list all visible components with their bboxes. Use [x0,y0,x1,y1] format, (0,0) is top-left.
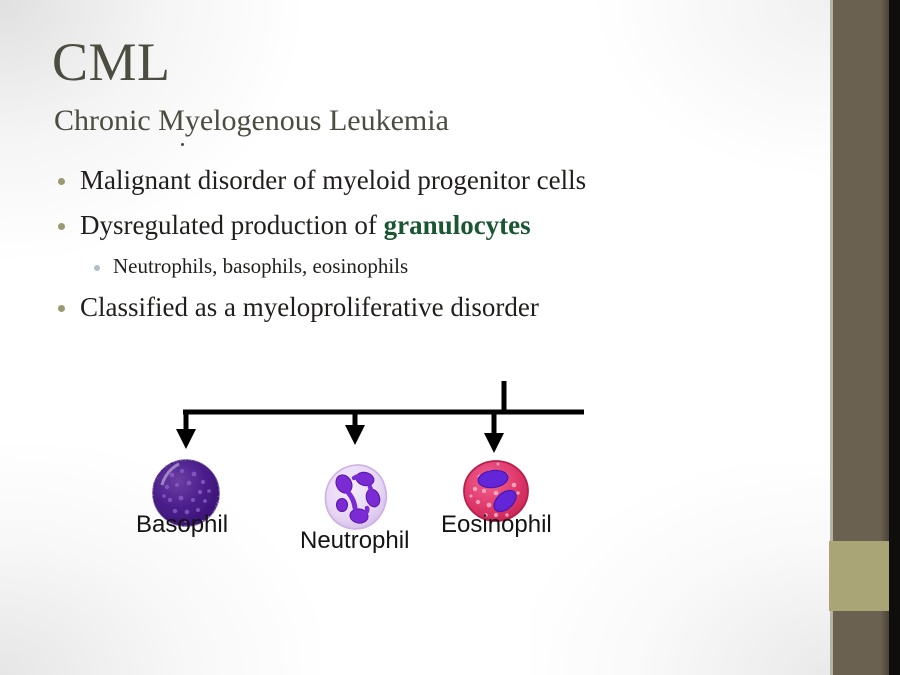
diagram-arrow-head-1 [176,429,196,449]
list-item: Malignant disorder of myeloid progenitor… [58,163,788,199]
slide-title: CML [52,34,171,91]
list-item: Dysregulated production of granulocytes [58,208,788,244]
list-item: Neutrophils, basophils, eosinophils [94,253,788,280]
bullet-text: Dysregulated production of granulocytes [80,208,531,244]
slide-canvas: CML Chronic Myelogenous Leukemia Maligna… [0,0,900,675]
background-gradient-bottom-right [530,465,830,675]
list-item: Classified as a myeloproliferative disor… [58,290,788,326]
diagram-arrow-head-2 [345,425,365,445]
bullet-text: Malignant disorder of myeloid progenitor… [80,163,586,199]
stray-dot-artifact [181,143,184,146]
highlight-granulocytes: granulocytes [384,210,531,240]
bullet-dot-icon [58,305,65,312]
bullet-text: Classified as a myeloproliferative disor… [80,290,539,326]
bullet-dot-icon [58,223,65,230]
slide-subtitle: Chronic Myelogenous Leukemia [54,104,449,137]
neutrophil-cell-icon [320,460,394,534]
cell-label-eosinophil: Eosinophil [441,511,552,539]
bullet-dot-icon [58,178,65,185]
granulocyte-diagram [0,0,900,675]
cell-label-basophil: Basophil [136,511,228,539]
background-gradient-top-right [590,0,830,180]
diagram-arrow-head-3 [484,433,504,453]
sub-bullet-text: Neutrophils, basophils, eosinophils [113,253,408,280]
side-accent-block [829,541,889,611]
bullet-list: Malignant disorder of myeloid progenitor… [58,163,788,335]
cell-label-neutrophil: Neutrophil [300,527,409,555]
sub-bullet-dot-icon [94,265,100,271]
